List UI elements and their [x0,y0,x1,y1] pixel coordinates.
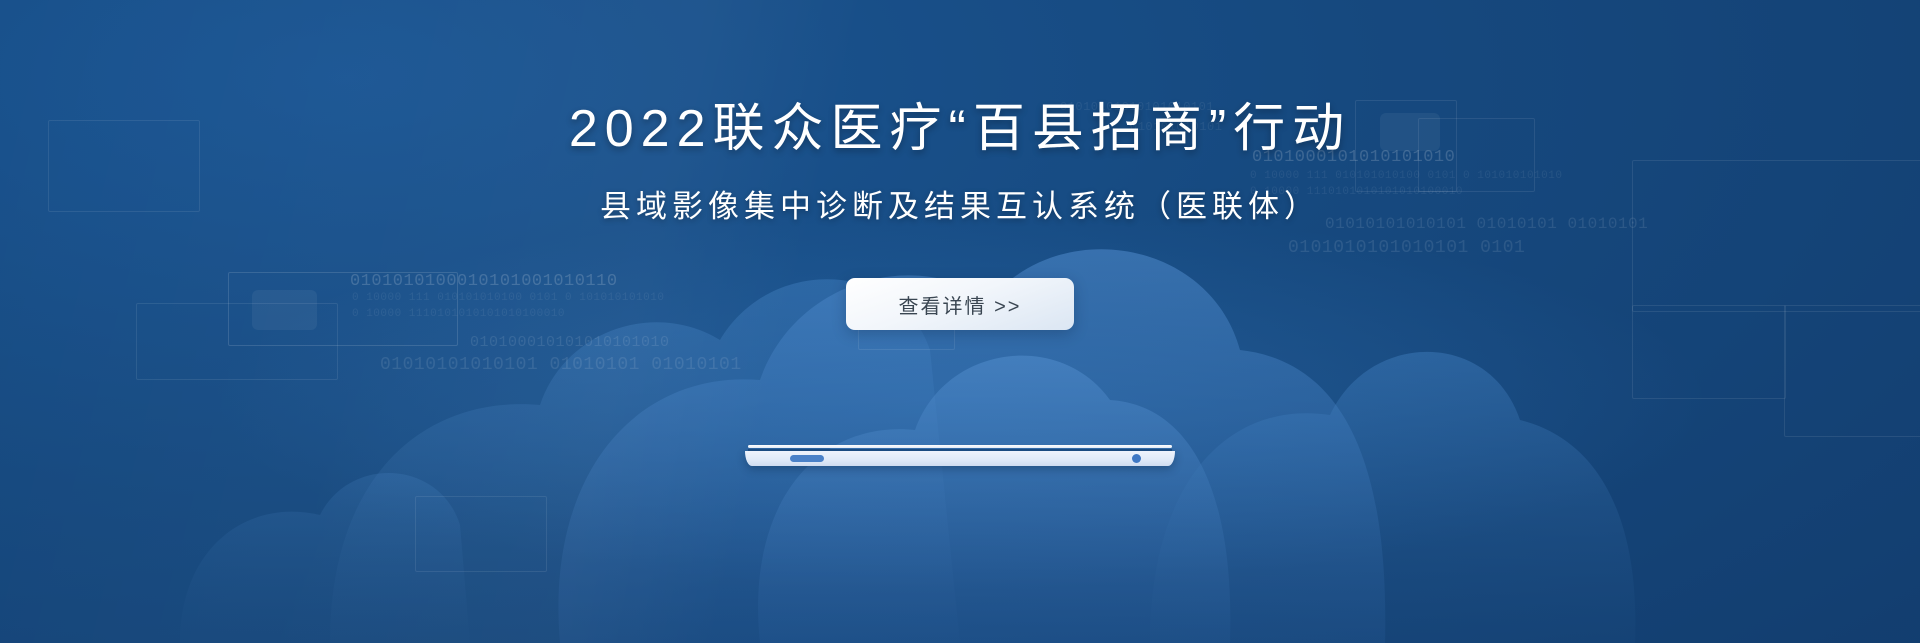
view-details-button[interactable]: 查看详情 >> [846,278,1074,330]
page-subtitle: 县域影像集中诊断及结果互认系统（医联体） [600,191,1320,222]
promo-banner: 0101010100010101001010110 0 10000 111 01… [0,0,1920,643]
page-title: 2022联众医疗“百县招商”行动 [569,103,1351,155]
banner-content: 2022联众医疗“百县招商”行动 县域影像集中诊断及结果互认系统（医联体） 查看… [0,0,1920,643]
